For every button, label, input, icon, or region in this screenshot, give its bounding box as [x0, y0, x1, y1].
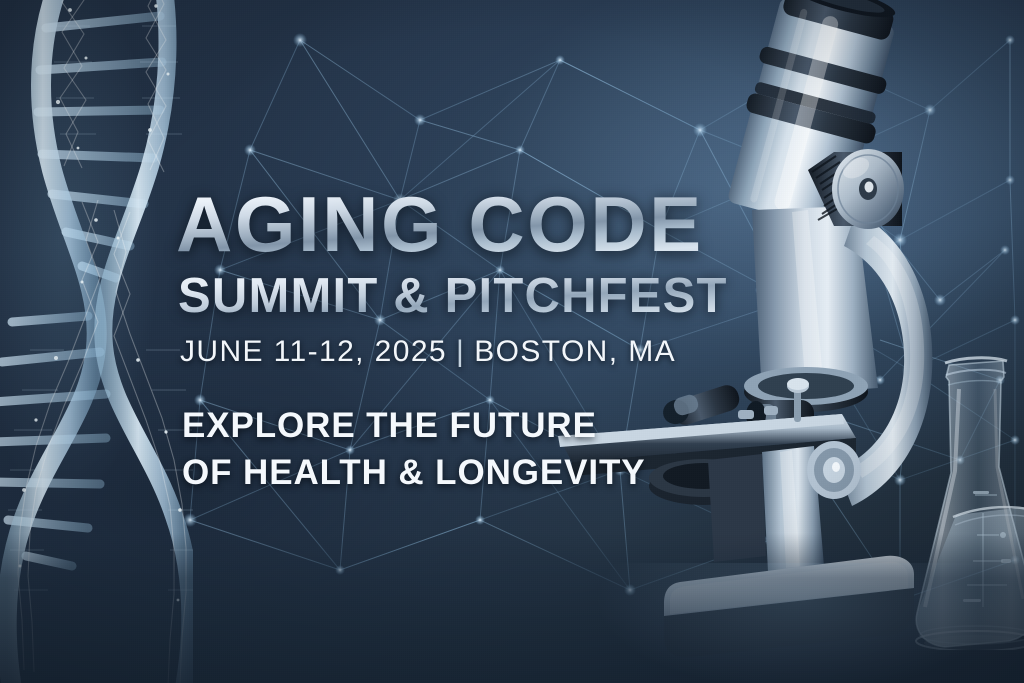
event-banner: AGING CODE SUMMIT & PITCHFEST JUNE 11-12… — [0, 0, 1024, 683]
tagline-line-2: OF HEALTH & LONGEVITY — [182, 450, 876, 496]
event-location: BOSTON, MA — [474, 335, 676, 368]
event-dateline: JUNE 11-12, 2025|BOSTON, MA — [180, 337, 876, 367]
banner-copy: AGING CODE SUMMIT & PITCHFEST JUNE 11-12… — [176, 186, 876, 496]
tagline-line-1: EXPLORE THE FUTURE — [182, 403, 876, 449]
event-subheadline: SUMMIT & PITCHFEST — [178, 272, 876, 321]
event-tagline: EXPLORE THE FUTURE OF HEALTH & LONGEVITY — [182, 403, 876, 495]
dateline-separator: | — [456, 337, 465, 367]
event-date: JUNE 11-12, 2025 — [180, 335, 447, 368]
event-headline: AGING CODE — [176, 186, 876, 262]
